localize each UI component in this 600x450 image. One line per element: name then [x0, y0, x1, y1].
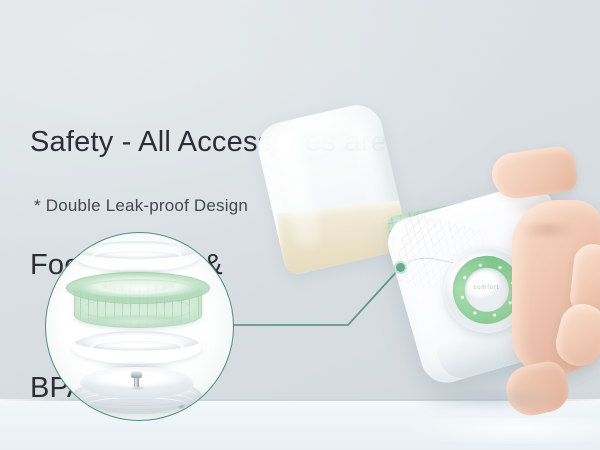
product-drop-shadow — [392, 384, 592, 414]
membrane-disc-base — [66, 363, 208, 417]
callout-anchor-dot — [396, 263, 405, 272]
exploded-accessory-inset — [45, 232, 234, 421]
product-banner: Safety - All Accessories are Food Grade … — [0, 0, 600, 450]
metal-pin — [131, 371, 142, 387]
holding-hand — [476, 128, 600, 428]
bottle-body — [253, 100, 410, 276]
subline-note: * Double Leak-proof Design — [34, 196, 248, 216]
knuckle-crease — [520, 224, 576, 236]
valve-housing — [66, 268, 208, 330]
pin-head — [131, 371, 142, 378]
valve-housing-rim — [66, 272, 210, 304]
valve-housing-base — [76, 314, 198, 332]
